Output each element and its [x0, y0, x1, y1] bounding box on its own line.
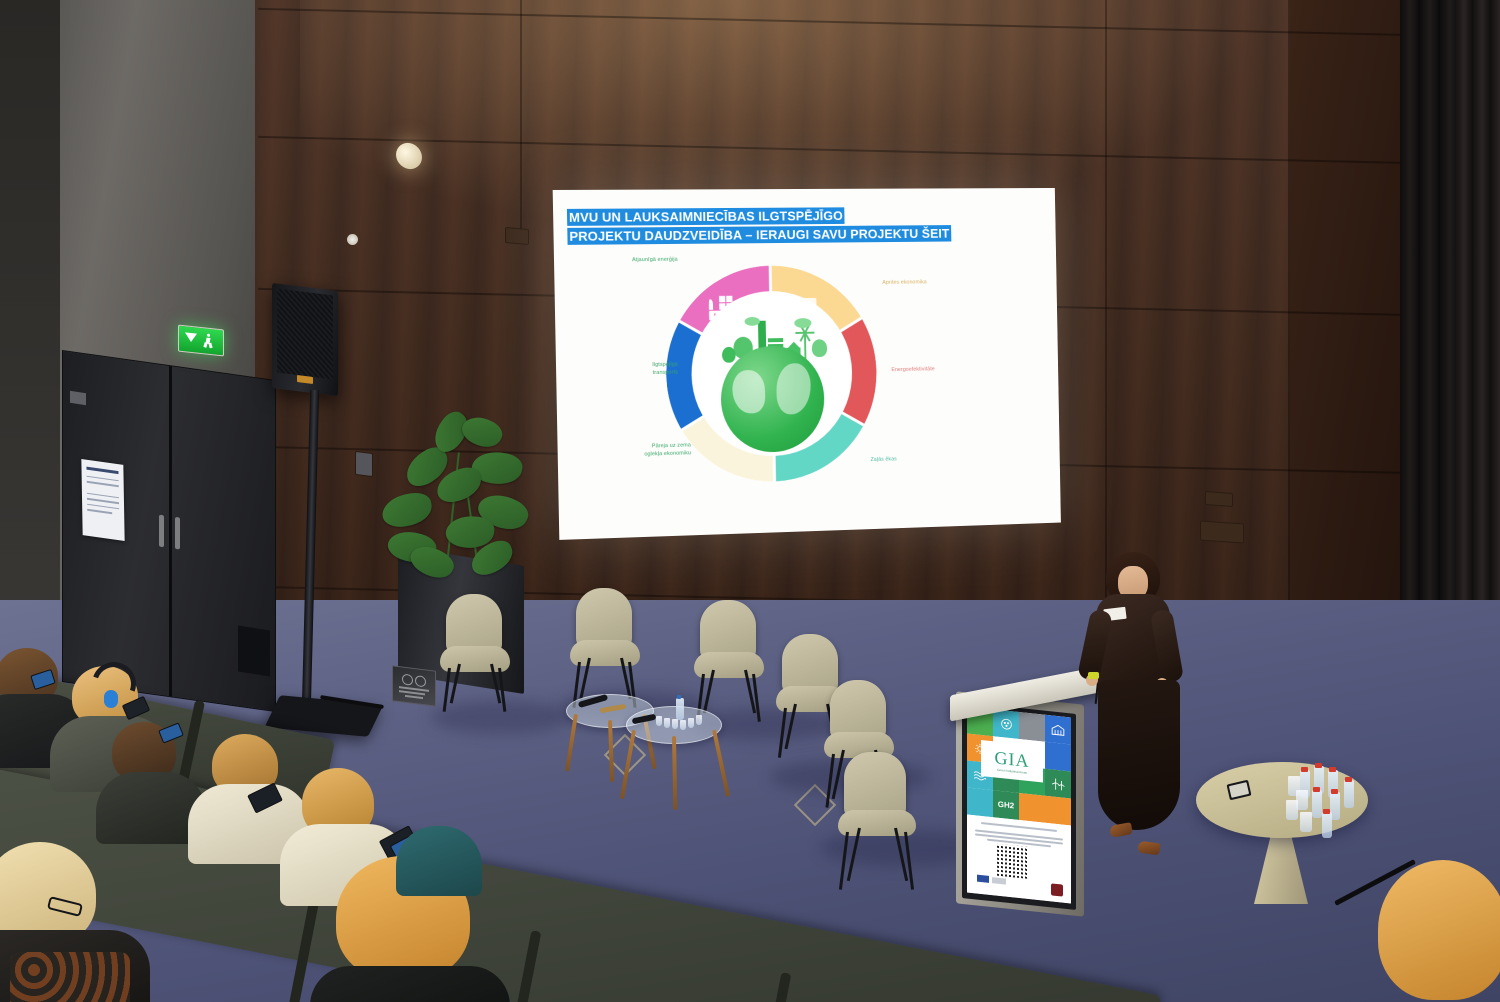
lectern-poster: GH2 GIA Green Industrial Areas: [967, 707, 1071, 904]
emergency-exit-sign: [178, 325, 224, 357]
building-icon: [1051, 723, 1065, 736]
label-green-buildings: Zaļās ēkas: [871, 455, 946, 464]
panel-chair[interactable]: [570, 588, 640, 698]
panel-chair[interactable]: [838, 752, 908, 862]
presentation-hall-photo: MVU UN LAUKSAIMNIECĪBAS ILGTSPĒJĪGO PROJ…: [0, 0, 1500, 1002]
table-top: [1196, 762, 1368, 838]
wood-seam: [520, 0, 522, 230]
label-sustainable-transport: Ilgtspējīgs transports: [601, 362, 678, 378]
wall-outlet-plate: [1200, 520, 1244, 543]
sustainability-donut-chart: Atjaunīgā enerģija Aprites ekonomika Ene…: [664, 265, 878, 485]
audience-member-10: [1378, 860, 1500, 1000]
label-renewable-energy: Atjaunīgā enerģija: [603, 257, 677, 265]
wall-fixture: [505, 227, 529, 245]
eu-flag-icon: [977, 875, 989, 883]
door-handle[interactable]: [159, 515, 164, 548]
lectern: GH2 GIA Green Industrial Areas: [952, 660, 1092, 910]
light-switch[interactable]: [355, 451, 373, 477]
slide-title: MVU UN LAUKSAIMNIECĪBAS ILGTSPĒJĪGO PROJ…: [567, 205, 1042, 246]
pa-loudspeaker: [272, 283, 338, 396]
down-arrow-icon: [185, 332, 197, 342]
label-circular-economy: Aprites ekonomika: [882, 279, 966, 287]
headphone-cup: [104, 690, 118, 708]
slide-title-line2: PROJEKTU DAUDZVEIDĪBA – IERAUGI SAVU PRO…: [567, 225, 951, 245]
presenter-at-lectern: [1082, 552, 1192, 882]
running-man-icon: [203, 333, 214, 349]
wind-turbine-icon: [1051, 776, 1065, 791]
door-sign: [70, 391, 86, 406]
label-low-carbon-economy: Pāreja uz zema oglekļa ekonomiku: [607, 442, 691, 459]
presenter-shoe: [1109, 822, 1133, 838]
speaker-grille: [277, 289, 333, 380]
panel-chair[interactable]: [694, 600, 764, 710]
left-wall-shadow: [0, 0, 60, 660]
recycle-icon: [1000, 717, 1013, 731]
wall-outlet-plate: [1205, 491, 1233, 507]
chair-shadow: [430, 700, 570, 734]
door-divider: [169, 366, 172, 696]
qr-code-icon[interactable]: [995, 841, 1031, 881]
projection-screen: MVU UN LAUKSAIMNIECĪBAS ILGTSPĒJĪGO PROJ…: [553, 188, 1061, 540]
round-side-table: [1196, 762, 1368, 858]
floral-garment: [10, 952, 130, 1002]
floor-plaque: [392, 665, 436, 706]
gia-logo-text: GIA: [995, 748, 1030, 770]
presenter-shoe: [1137, 841, 1160, 856]
slide-title-line1: MVU UN LAUKSAIMNIECĪBAS ILGTSPĒJĪGO: [567, 207, 845, 226]
label-energy-efficiency: Energoefektivitāte: [891, 366, 975, 375]
earth-globe-icon: [720, 345, 825, 453]
audience-member-teal-jacket: [396, 826, 482, 896]
gia-logo: GIA Green Industrial Areas: [981, 740, 1043, 783]
presentation-clicker[interactable]: [1088, 672, 1099, 679]
door-handle[interactable]: [175, 517, 180, 550]
presenter-skirt: [1098, 680, 1180, 830]
door-base-panel: [238, 625, 270, 676]
h2-label: GH2: [993, 790, 1019, 820]
glass-side-table: [626, 706, 720, 776]
panel-chair[interactable]: [440, 594, 510, 704]
smoke-detector-icon: [347, 234, 358, 245]
speaker-brand-logo: [297, 375, 313, 384]
door-notice-sheet: [81, 459, 124, 541]
institution-icon: [1051, 883, 1063, 896]
